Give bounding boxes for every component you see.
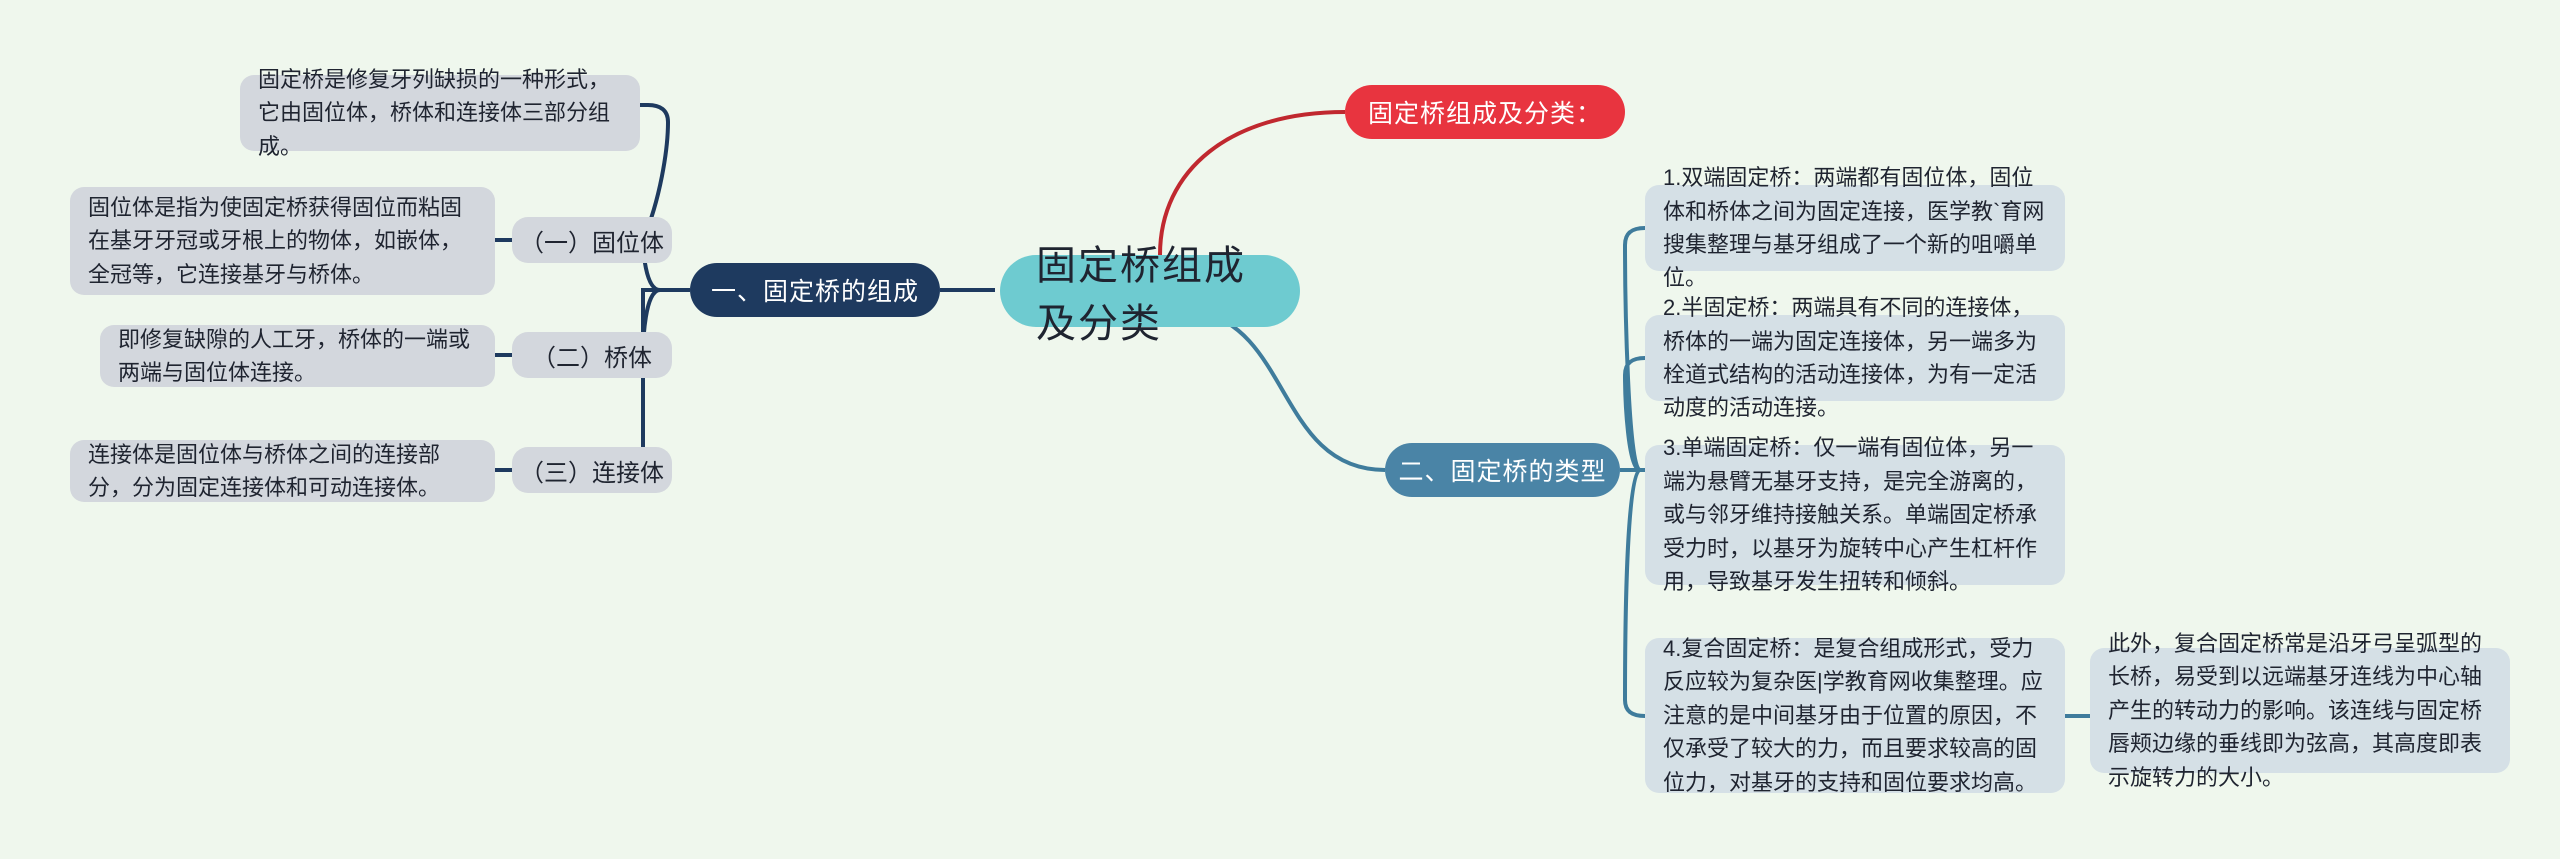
note-compound-bridge-extra-text: 此外，复合固定桥常是沿牙弓呈弧型的长桥，易受到以远端基牙连线为中心轴产生的转动力… bbox=[2108, 627, 2492, 794]
type-cantilever-bridge-text: 3.单端固定桥：仅一端有固位体，另一端为悬臂无基牙支持，是完全游离的，或与邻牙维… bbox=[1663, 431, 2047, 598]
branch-composition-label: 一、固定桥的组成 bbox=[711, 272, 919, 308]
root-label: 固定桥组成及分类 bbox=[1036, 233, 1264, 349]
branch-composition[interactable]: 一、固定桥的组成 bbox=[690, 263, 940, 317]
type-semi-fixed-bridge[interactable]: 2.半固定桥：两端具有不同的连接体，桥体的一端为固定连接体，另一端多为栓道式结构… bbox=[1645, 315, 2065, 401]
sub-pontic-label: （二）桥体 bbox=[532, 338, 652, 373]
root-node[interactable]: 固定桥组成及分类 bbox=[1000, 255, 1300, 327]
note-retainer-text: 固位体是指为使固定桥获得固位而粘固在基牙牙冠或牙根上的物体，如嵌体，全冠等，它连… bbox=[88, 191, 477, 291]
sub-connector-label: （三）连接体 bbox=[520, 453, 664, 488]
mindmap-canvas: 固定桥组成及分类 一、固定桥的组成 固定桥是修复牙列缺损的一种形式，它由固位体，… bbox=[0, 0, 2560, 859]
sub-connector[interactable]: （三）连接体 bbox=[512, 447, 672, 493]
sub-pontic[interactable]: （二）桥体 bbox=[512, 332, 672, 378]
type-cantilever-bridge[interactable]: 3.单端固定桥：仅一端有固位体，另一端为悬臂无基牙支持，是完全游离的，或与邻牙维… bbox=[1645, 445, 2065, 585]
sub-retainer[interactable]: （一）固位体 bbox=[512, 217, 672, 263]
sub-retainer-label: （一）固位体 bbox=[520, 223, 664, 258]
note-composition-overview-text: 固定桥是修复牙列缺损的一种形式，它由固位体，桥体和连接体三部分组成。 bbox=[258, 63, 622, 163]
type-semi-fixed-bridge-text: 2.半固定桥：两端具有不同的连接体，桥体的一端为固定连接体，另一端多为栓道式结构… bbox=[1663, 291, 2047, 425]
note-retainer[interactable]: 固位体是指为使固定桥获得固位而粘固在基牙牙冠或牙根上的物体，如嵌体，全冠等，它连… bbox=[70, 187, 495, 295]
type-double-abutment-bridge[interactable]: 1.双端固定桥：两端都有固位体，固位体和桥体之间为固定连接，医学教`育网搜集整理… bbox=[1645, 185, 2065, 271]
type-compound-bridge-text: 4.复合固定桥：是复合组成形式，受力反应较为复杂医|学教育网收集整理。应注意的是… bbox=[1663, 632, 2047, 799]
note-connector[interactable]: 连接体是固位体与桥体之间的连接部分，分为固定连接体和可动连接体。 bbox=[70, 440, 495, 502]
note-connector-text: 连接体是固位体与桥体之间的连接部分，分为固定连接体和可动连接体。 bbox=[88, 438, 477, 505]
type-compound-bridge[interactable]: 4.复合固定桥：是复合组成形式，受力反应较为复杂医|学教育网收集整理。应注意的是… bbox=[1645, 638, 2065, 793]
note-pontic-text: 即修复缺隙的人工牙，桥体的一端或两端与固位体连接。 bbox=[118, 323, 477, 390]
branch-title-tag[interactable]: 固定桥组成及分类： bbox=[1345, 85, 1625, 139]
type-double-abutment-bridge-text: 1.双端固定桥：两端都有固位体，固位体和桥体之间为固定连接，医学教`育网搜集整理… bbox=[1663, 161, 2047, 295]
branch-types-label: 二、固定桥的类型 bbox=[1399, 452, 1607, 488]
branch-title-tag-label: 固定桥组成及分类： bbox=[1368, 94, 1602, 130]
note-pontic[interactable]: 即修复缺隙的人工牙，桥体的一端或两端与固位体连接。 bbox=[100, 325, 495, 387]
note-composition-overview[interactable]: 固定桥是修复牙列缺损的一种形式，它由固位体，桥体和连接体三部分组成。 bbox=[240, 75, 640, 151]
note-compound-bridge-extra[interactable]: 此外，复合固定桥常是沿牙弓呈弧型的长桥，易受到以远端基牙连线为中心轴产生的转动力… bbox=[2090, 648, 2510, 773]
branch-types[interactable]: 二、固定桥的类型 bbox=[1385, 443, 1620, 497]
